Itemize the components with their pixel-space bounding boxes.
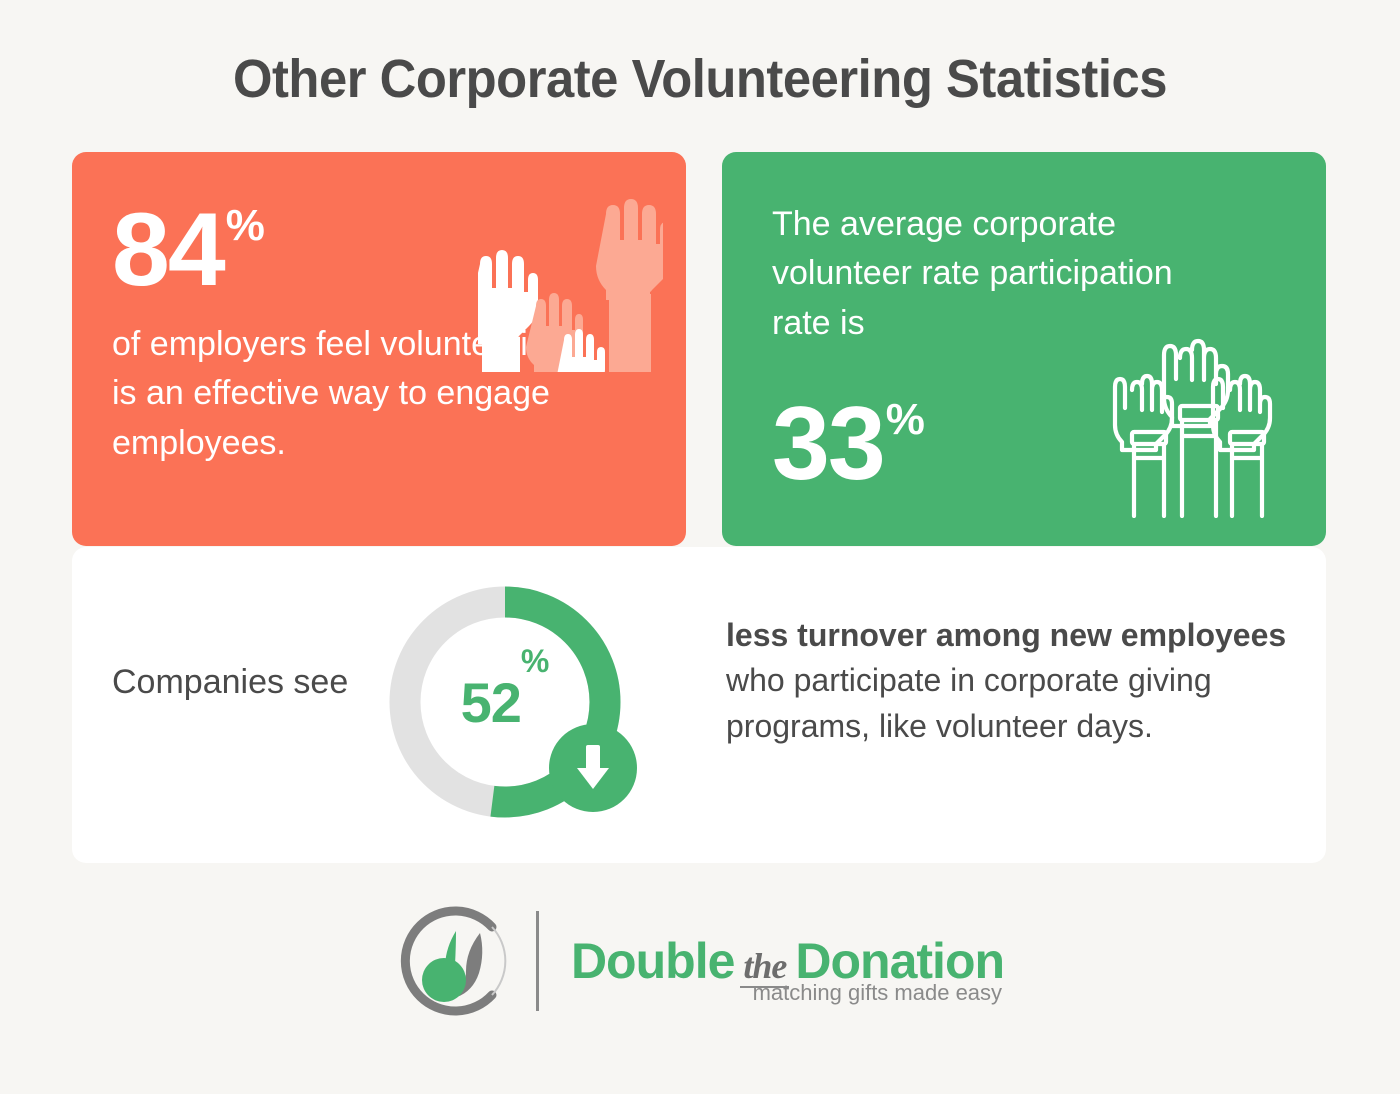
donut-chart: 52 % xyxy=(388,585,668,825)
raised-hands-outline-icon xyxy=(1108,328,1288,518)
stat-percent-symbol: % xyxy=(226,204,265,248)
page-title: Other Corporate Volunteering Statistics xyxy=(42,48,1358,110)
donut-chart-svg xyxy=(388,585,668,825)
stat-number: 33 xyxy=(772,392,884,496)
turnover-text-bold: less turnover among new employees xyxy=(726,617,1286,653)
turnover-text: less turnover among new employees who pa… xyxy=(726,613,1296,749)
logo-tagline: matching gifts made easy xyxy=(753,980,1002,1006)
green-card-body: The average corporate volunteer rate par… xyxy=(772,200,1232,348)
stat-number: 84 xyxy=(112,198,224,302)
logo-wordmark: DoubletheDonation matching gifts made ea… xyxy=(571,932,1004,990)
companies-see-label: Companies see xyxy=(112,660,352,706)
raised-hands-solid-icon xyxy=(478,172,663,372)
stat-percent-symbol: % xyxy=(886,398,925,442)
double-the-donation-logo-icon xyxy=(396,905,514,1017)
logo-brand-part1: Double xyxy=(571,933,734,989)
turnover-text-rest: who participate in corporate giving prog… xyxy=(726,662,1212,743)
stat-33-percent: 33 % xyxy=(772,392,925,496)
stat-84-percent: 84 % xyxy=(112,198,265,302)
footer-logo[interactable]: DoubletheDonation matching gifts made ea… xyxy=(0,905,1400,1017)
logo-divider xyxy=(536,911,539,1011)
